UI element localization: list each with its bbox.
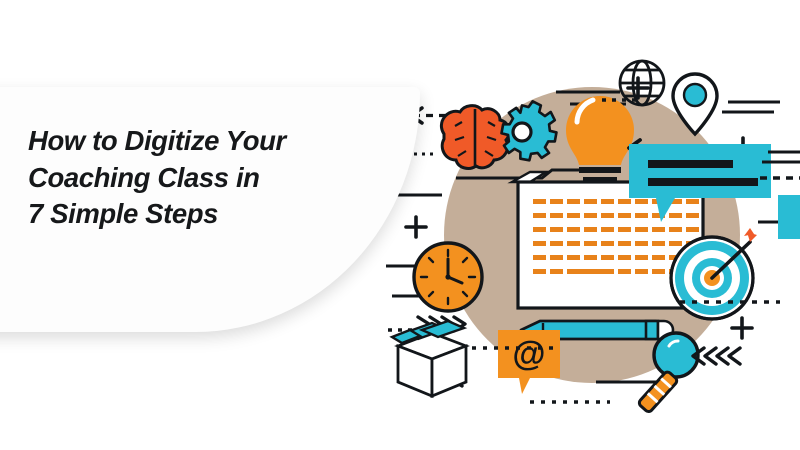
chevron-left-lower-decor — [693, 348, 740, 364]
plus-bottom-icon — [732, 318, 752, 338]
title-line-2: Coaching Class in — [28, 160, 358, 197]
title-line-1: How to Digitize Your — [28, 123, 358, 160]
at-sign-bubble-icon: @ — [498, 330, 560, 394]
clock-icon — [414, 243, 482, 311]
svg-text:@: @ — [512, 335, 545, 373]
title-line-3: 7 Simple Steps — [28, 196, 358, 233]
title-card: How to Digitize Your Coaching Class in 7… — [0, 87, 420, 332]
decor-right-rules — [722, 102, 780, 112]
brain-icon — [441, 106, 509, 169]
open-box-icon — [392, 321, 466, 396]
banner-canvas: @ — [0, 0, 800, 450]
cyan-tag-decor — [778, 195, 800, 239]
page-title: How to Digitize Your Coaching Class in 7… — [28, 123, 358, 233]
illustration: @ — [380, 30, 800, 420]
